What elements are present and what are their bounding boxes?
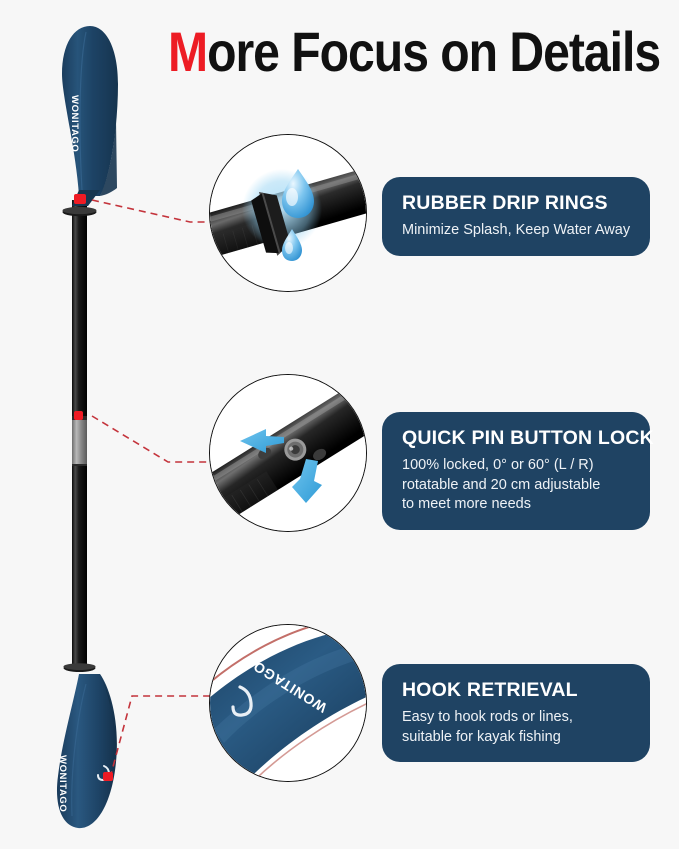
drip-ring-closeup-photo (209, 134, 367, 292)
feature-callout-drip-rings: RUBBER DRIP RINGS Minimize Splash, Keep … (382, 177, 650, 256)
feature-body: Minimize Splash, Keep Water Away (402, 221, 630, 241)
top-blade-brand-label: WONITAGO (69, 95, 80, 152)
feature-body: Easy to hook rods or lines, suitable for… (402, 708, 630, 747)
paddle-ferrule (72, 418, 87, 466)
feature-body-line: rotatable and 20 cm adjustable (402, 476, 630, 496)
feature-body: 100% locked, 0° or 60° (L / R) rotatable… (402, 456, 630, 515)
feature-body-line: Minimize Splash, Keep Water Away (402, 221, 630, 241)
feature-body-line: to meet more needs (402, 495, 630, 515)
hook-retrieval-closeup-photo: WONITAGO (209, 624, 367, 782)
marker-dot-drip-ring (74, 194, 86, 204)
page-title-rest: ore Focus on Details (207, 20, 660, 83)
marker-dot-hook (103, 772, 113, 781)
feature-title: RUBBER DRIP RINGS (402, 191, 630, 215)
pin-button-lock-closeup-photo (209, 374, 367, 532)
kayak-paddle-illustration: WONITAGO WONITAGO (0, 0, 190, 849)
marker-dot-pin-lock (74, 411, 83, 420)
paddle-shaft-lower (72, 466, 87, 666)
feature-title: QUICK PIN BUTTON LOCK (402, 426, 630, 450)
feature-callout-pin-lock: QUICK PIN BUTTON LOCK 100% locked, 0° or… (382, 412, 650, 530)
feature-title: HOOK RETRIEVAL (402, 678, 630, 702)
page-title: More Focus on Details (168, 18, 598, 86)
infographic-canvas: More Focus on Details (0, 0, 679, 849)
feature-body-line: suitable for kayak fishing (402, 728, 630, 748)
bottom-blade-brand-label: WONITAGO (57, 755, 68, 812)
feature-body-line: 100% locked, 0° or 60° (L / R) (402, 456, 630, 476)
feature-callout-hook-retrieval: HOOK RETRIEVAL Easy to hook rods or line… (382, 664, 650, 762)
feature-body-line: Easy to hook rods or lines, (402, 708, 630, 728)
